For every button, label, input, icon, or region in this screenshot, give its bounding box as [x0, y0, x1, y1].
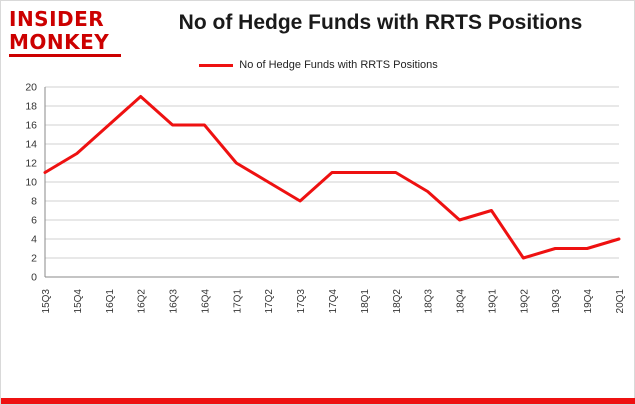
y-axis-tick-label: 20: [25, 82, 37, 94]
logo-line-2: MONKEY: [9, 32, 127, 52]
chart-page: INSIDER MONKEY No of Hedge Funds with RR…: [0, 0, 635, 405]
footer-accent-bar: [1, 398, 635, 404]
y-axis-tick-label: 8: [31, 196, 37, 208]
y-axis-tick-label: 18: [25, 101, 37, 113]
logo-line-1: INSIDER: [9, 9, 127, 29]
x-axis-tick-label: 15Q3: [41, 289, 52, 314]
x-axis-tick-label: 18Q1: [360, 289, 371, 314]
x-axis-tick-label: 19Q2: [519, 289, 530, 314]
x-axis-tick-label: 19Q4: [583, 289, 594, 314]
y-axis-tick-label: 12: [25, 158, 37, 170]
chart-title: No of Hedge Funds with RRTS Positions: [133, 11, 628, 35]
y-axis-tick-label: 4: [31, 234, 37, 246]
x-axis-tick-label: 15Q4: [73, 289, 84, 314]
legend-label: No of Hedge Funds with RRTS Positions: [239, 59, 438, 71]
y-axis-tick-label: 10: [25, 177, 37, 189]
chart-legend: No of Hedge Funds with RRTS Positions: [1, 59, 635, 71]
x-axis-tick-label: 19Q1: [487, 289, 498, 314]
x-axis-tick-label: 17Q3: [296, 289, 307, 314]
legend-color-swatch: [199, 64, 233, 67]
y-axis-tick-label: 6: [31, 215, 37, 227]
x-axis-tick-label: 17Q1: [232, 289, 243, 314]
x-axis-tick-label: 16Q1: [105, 289, 116, 314]
x-axis-tick-label: 16Q3: [169, 289, 180, 314]
y-axis-tick-label: 16: [25, 120, 37, 132]
x-axis-tick-label: 18Q2: [392, 289, 403, 314]
x-axis-tick-label: 16Q2: [137, 289, 148, 314]
chart-plot-area: 0246810121416182015Q315Q416Q116Q216Q316Q…: [1, 77, 635, 367]
data-series-line: [45, 97, 619, 259]
y-axis-tick-label: 14: [25, 139, 37, 151]
x-axis-tick-label: 16Q4: [200, 289, 211, 314]
x-axis-tick-label: 17Q2: [264, 289, 275, 314]
x-axis-tick-label: 18Q3: [424, 289, 435, 314]
insider-monkey-logo: INSIDER MONKEY: [9, 9, 127, 55]
line-chart-svg: 0246810121416182015Q315Q416Q116Q216Q316Q…: [1, 77, 635, 367]
x-axis-tick-label: 17Q4: [328, 289, 339, 314]
x-axis-tick-label: 18Q4: [456, 289, 467, 314]
x-axis-tick-label: 20Q1: [615, 289, 626, 314]
logo-underline: [9, 54, 121, 57]
y-axis-tick-label: 2: [31, 253, 37, 265]
y-axis-tick-label: 0: [31, 272, 37, 284]
x-axis-tick-label: 19Q3: [551, 289, 562, 314]
